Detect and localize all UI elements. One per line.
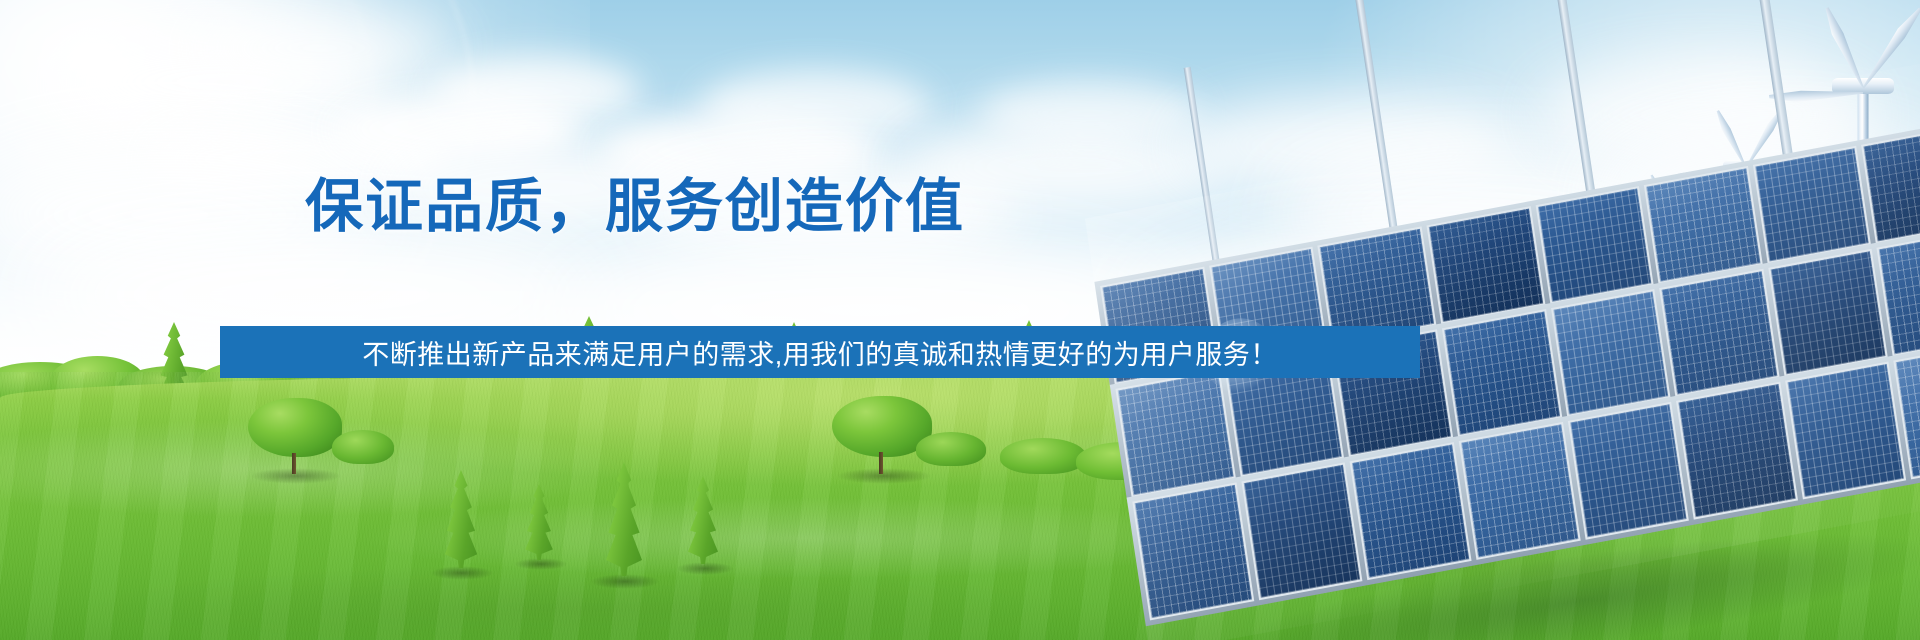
- solar-panel: [1768, 249, 1888, 377]
- solar-panel: [1132, 482, 1254, 620]
- solar-panel: [1442, 309, 1562, 437]
- solar-panel: [1567, 402, 1689, 540]
- meadow-sapling: [678, 476, 728, 564]
- meadow-tree-large: [832, 396, 932, 474]
- solar-panel: [1551, 289, 1671, 417]
- solar-panel: [1350, 442, 1472, 580]
- solar-panel: [1785, 361, 1907, 499]
- subtitle-banner-bar: 不断推出新产品来满足用户的需求,用我们的真诚和热情更好的为用户服务！: [220, 326, 1420, 378]
- meadow-tree-large: [248, 398, 342, 474]
- meadow-sapling: [516, 484, 562, 560]
- solar-panel: [1659, 269, 1779, 397]
- solar-panel: [1115, 370, 1235, 498]
- solar-panel: [1861, 126, 1920, 244]
- subtitle-text: 不断推出新产品来满足用户的需求,用我们的真诚和热情更好的为用户服务！: [362, 333, 1278, 372]
- solar-panel: [1459, 422, 1581, 560]
- meadow-sapling: [594, 462, 654, 576]
- solar-panel: [1241, 462, 1363, 600]
- hero-banner: 保证品质，服务创造价值 不断推出新产品来满足用户的需求,用我们的真诚和热情更好的…: [0, 0, 1920, 640]
- solar-panel: [1676, 382, 1798, 520]
- meadow-sapling: [434, 470, 488, 568]
- page-title: 保证品质，服务创造价值: [305, 178, 965, 236]
